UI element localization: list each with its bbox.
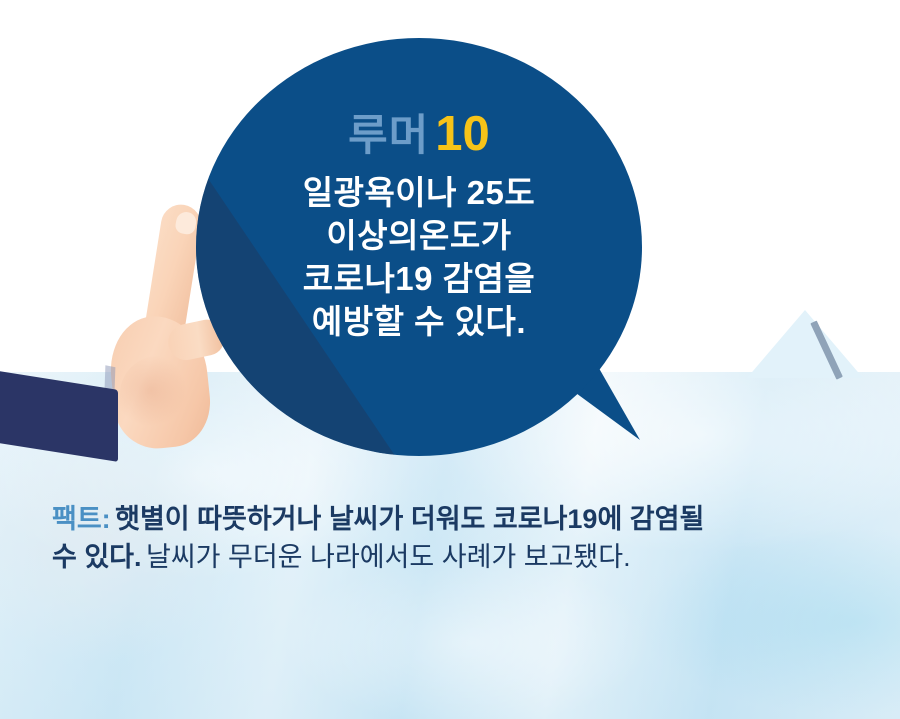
iceberg-peak-icon [747,310,863,378]
rumor-claim-line-3: 코로나19 감염을 [210,258,628,301]
rumor-claim-line-1: 일광욕이나 25도 [210,172,628,215]
speech-bubble-text: 루머10 일광욕이나 25도 이상의온도가 코로나19 감염을 예방할 수 있다… [196,38,642,344]
fact-line-1-bold: 햇별이 따뜻하거나 날씨가 더워도 코로나19에 감염될 [115,504,704,534]
fact-line-2-normal: 날씨가 무더운 나라에서도 사례가 보고됐다. [146,542,631,572]
fact-line-2-bold: 수 있다. [52,542,142,572]
hand-shading [120,356,196,442]
rumor-heading: 루머10 [196,110,642,159]
fact-line-1: 팩트: 햇별이 따뜻하거나 날씨가 더워도 코로나19에 감염될 [52,500,862,538]
fact-line-2: 수 있다. 날씨가 무더운 나라에서도 사례가 보고됐다. [52,538,862,576]
rumor-claim-line-2: 이상의온도가 [210,215,628,258]
rumor-claim-line-4: 예방할 수 있다. [210,301,628,344]
rumor-number: 10 [435,107,490,161]
fact-block: 팩트: 햇별이 따뜻하거나 날씨가 더워도 코로나19에 감염될 수 있다. 날… [52,500,862,577]
rumor-label: 루머 [348,112,429,160]
fact-label: 팩트: [52,504,111,534]
infographic-poster: 루머10 일광욕이나 25도 이상의온도가 코로나19 감염을 예방할 수 있다… [0,0,900,719]
rumor-claim: 일광욕이나 25도 이상의온도가 코로나19 감염을 예방할 수 있다. [196,172,642,344]
